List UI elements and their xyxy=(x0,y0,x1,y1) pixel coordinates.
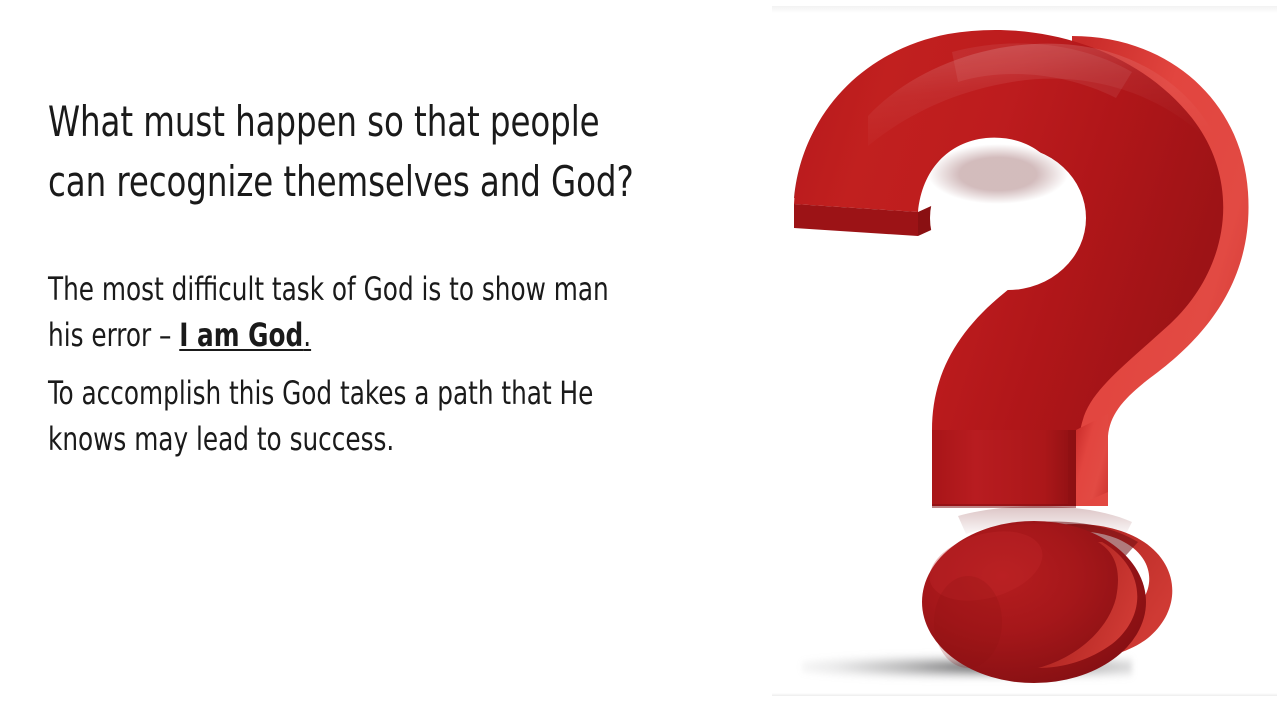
question-mark-stage xyxy=(772,6,1277,696)
body-paragraph-1-lead: The most difficult task of God is to sho… xyxy=(48,270,609,354)
slide-body: The most difficult task of God is to sho… xyxy=(48,266,748,462)
slide-canvas: What must happen so that people can reco… xyxy=(0,0,1280,720)
emphasis-i-am-god: I am God xyxy=(179,316,303,354)
body-paragraph-1: The most difficult task of God is to sho… xyxy=(48,266,650,358)
body-paragraph-2: To accomplish this God takes a path that… xyxy=(48,370,650,462)
slide-title: What must happen so that people can reco… xyxy=(48,92,650,212)
question-mark-icon xyxy=(772,6,1277,696)
body-paragraph-1-tail: . xyxy=(303,316,311,354)
image-panel xyxy=(772,6,1277,696)
panel-bottom-edge xyxy=(772,693,1277,696)
text-column: What must happen so that people can reco… xyxy=(48,92,748,462)
